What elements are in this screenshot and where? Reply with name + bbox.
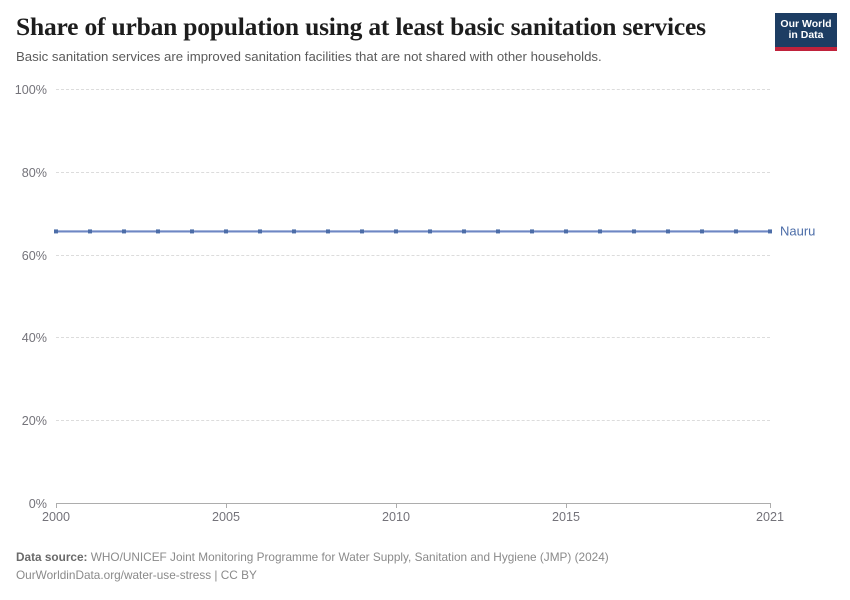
x-axis-tick bbox=[770, 503, 771, 508]
series-data-point[interactable] bbox=[224, 229, 228, 233]
our-world-in-data-logo[interactable]: Our World in Data bbox=[775, 13, 837, 51]
series-label-nauru[interactable]: Nauru bbox=[780, 224, 815, 239]
series-data-point[interactable] bbox=[394, 229, 398, 233]
data-source-label: Data source: bbox=[16, 550, 87, 564]
chart-footer: Data source: WHO/UNICEF Joint Monitoring… bbox=[16, 548, 834, 585]
series-data-point[interactable] bbox=[462, 229, 466, 233]
data-source-line: Data source: WHO/UNICEF Joint Monitoring… bbox=[16, 548, 834, 566]
x-axis-tick-label: 2000 bbox=[42, 510, 70, 524]
y-axis-tick-label: 60% bbox=[22, 249, 47, 263]
line-chart: 0%20%40%60%80%100%20002005201020152021Na… bbox=[0, 72, 850, 542]
series-layer bbox=[56, 89, 770, 503]
series-data-point[interactable] bbox=[496, 229, 500, 233]
chart-header: Share of urban population using at least… bbox=[0, 0, 850, 72]
page-title: Share of urban population using at least… bbox=[16, 12, 706, 42]
series-data-point[interactable] bbox=[122, 229, 126, 233]
x-axis-tick-label: 2021 bbox=[756, 510, 784, 524]
url-license-line[interactable]: OurWorldinData.org/water-use-stress | CC… bbox=[16, 566, 834, 584]
series-data-point[interactable] bbox=[190, 229, 194, 233]
series-data-point[interactable] bbox=[700, 229, 704, 233]
series-data-point[interactable] bbox=[768, 229, 772, 233]
chart-subtitle: Basic sanitation services are improved s… bbox=[16, 49, 602, 64]
y-axis-tick-label: 40% bbox=[22, 331, 47, 345]
x-axis-tick bbox=[226, 503, 227, 508]
x-axis-tick-label: 2015 bbox=[552, 510, 580, 524]
series-data-point[interactable] bbox=[598, 229, 602, 233]
series-data-point[interactable] bbox=[530, 229, 534, 233]
series-data-point[interactable] bbox=[360, 229, 364, 233]
y-gridline: 0% bbox=[56, 503, 770, 504]
series-data-point[interactable] bbox=[54, 229, 58, 233]
y-axis-tick-label: 100% bbox=[15, 83, 47, 97]
x-axis-tick-label: 2010 bbox=[382, 510, 410, 524]
x-axis-tick bbox=[396, 503, 397, 508]
series-data-point[interactable] bbox=[734, 229, 738, 233]
series-data-point[interactable] bbox=[666, 229, 670, 233]
series-data-point[interactable] bbox=[258, 229, 262, 233]
y-axis-tick-label: 80% bbox=[22, 166, 47, 180]
x-axis-tick bbox=[566, 503, 567, 508]
logo-line-2: in Data bbox=[788, 30, 823, 41]
series-data-point[interactable] bbox=[292, 229, 296, 233]
series-data-point[interactable] bbox=[632, 229, 636, 233]
x-axis-tick bbox=[56, 503, 57, 508]
series-data-point[interactable] bbox=[428, 229, 432, 233]
y-axis-tick-label: 0% bbox=[29, 497, 47, 511]
series-data-point[interactable] bbox=[564, 229, 568, 233]
series-data-point[interactable] bbox=[326, 229, 330, 233]
data-source-text: WHO/UNICEF Joint Monitoring Programme fo… bbox=[91, 550, 609, 564]
y-axis-tick-label: 20% bbox=[22, 414, 47, 428]
series-data-point[interactable] bbox=[88, 229, 92, 233]
series-data-point[interactable] bbox=[156, 229, 160, 233]
x-axis-tick-label: 2005 bbox=[212, 510, 240, 524]
plot-area[interactable]: 0%20%40%60%80%100%20002005201020152021Na… bbox=[56, 89, 770, 503]
